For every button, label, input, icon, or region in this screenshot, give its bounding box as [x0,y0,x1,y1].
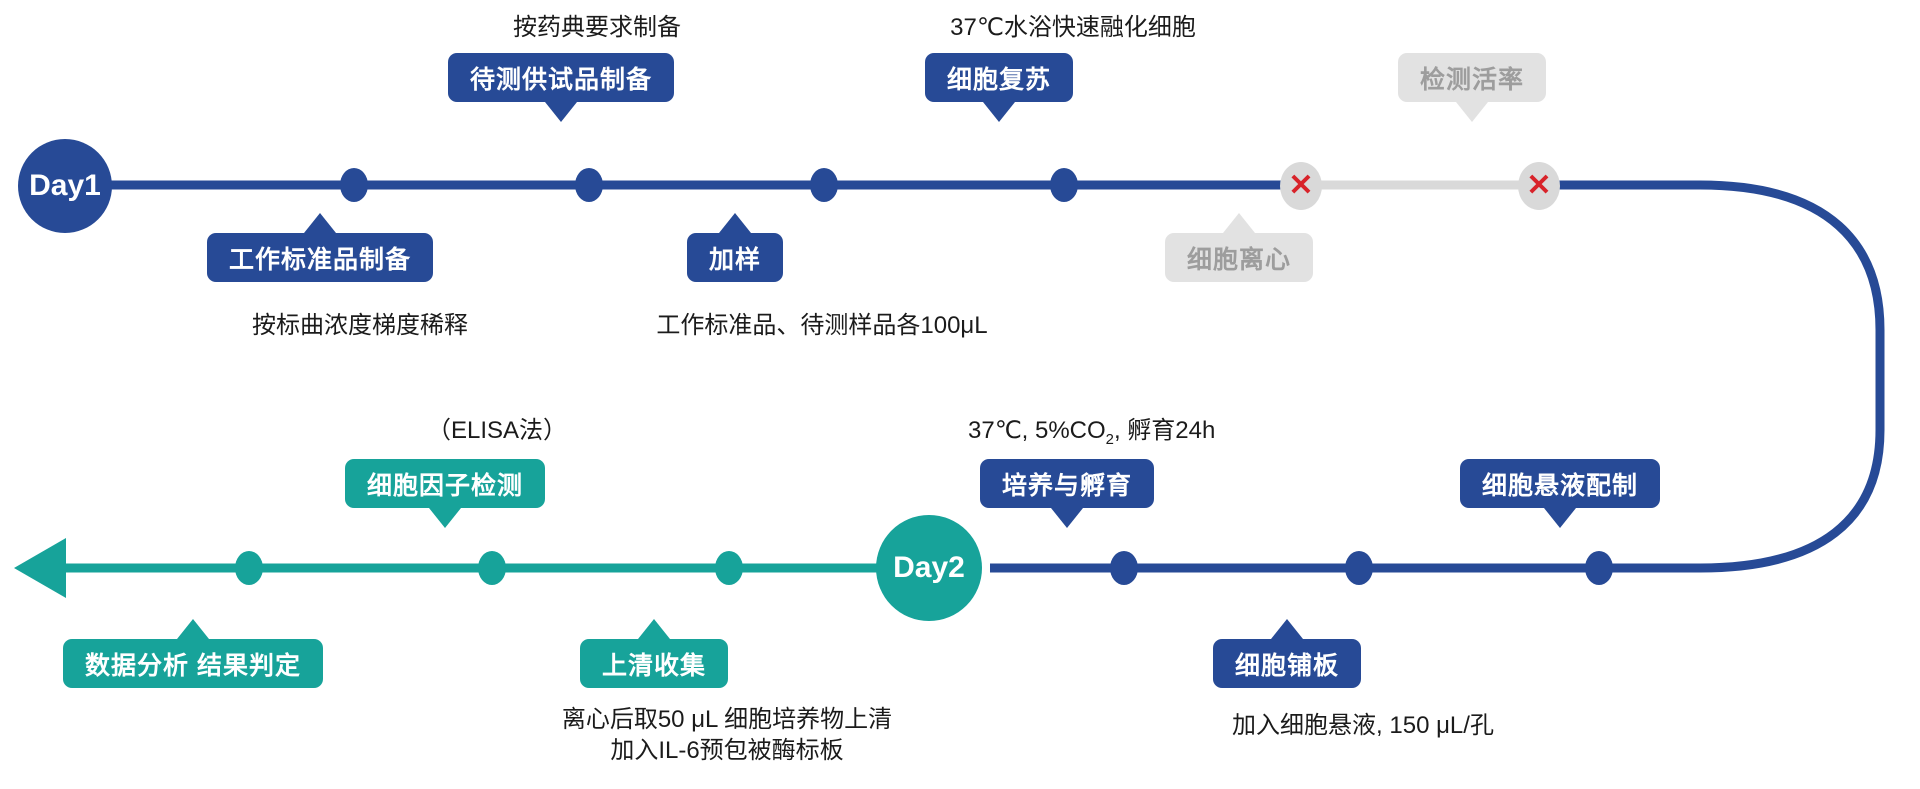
box-label: 细胞铺板 [1235,646,1339,682]
box-label: 细胞离心 [1187,240,1291,276]
day2-node-cytokine[interactable] [478,551,506,585]
box-viability-check[interactable]: 检测活率 [1398,53,1546,102]
caption-pharmacopeia: 按药典要求制备 [513,7,681,42]
box-cell-plating[interactable]: 细胞铺板 [1213,639,1361,688]
cross-icon: ✕ [1288,171,1313,201]
box-label: 数据分析 结果判定 [85,646,301,682]
caption-standard-dilution: 按标曲浓度梯度稀释 [252,305,468,340]
day1-node-3[interactable] [810,168,838,202]
day1-label: Day1 [29,169,101,203]
day2-node-incubation[interactable] [1110,551,1138,585]
day1-bubble[interactable]: Day1 [18,139,112,233]
day1-node-5-excluded[interactable]: ✕ [1280,162,1322,210]
day2-label: Day2 [893,551,965,585]
box-cell-suspension-prep[interactable]: 细胞悬液配制 [1460,459,1660,508]
caption-part-time: , 孵育24h [1114,417,1215,444]
box-label: 待测供试品制备 [470,60,652,96]
box-label: 细胞复苏 [947,60,1051,96]
day1-node-4[interactable] [1050,168,1078,202]
box-cell-recovery[interactable]: 细胞复苏 [925,53,1073,102]
box-label: 检测活率 [1420,60,1524,96]
caption-thaw-cells: 37℃水浴快速融化细胞 [950,7,1196,42]
day2-bubble[interactable]: Day2 [876,515,982,621]
caption-plating-volume: 加入细胞悬液, 150 μL/孔 [1232,705,1494,740]
box-supernatant-collection[interactable]: 上清收集 [580,639,728,688]
caption-elisa-method: （ELISA法） [427,410,567,445]
day1-node-2[interactable] [575,168,603,202]
day1-to-day2-curve [1548,185,1880,568]
box-working-standard-prep[interactable]: 工作标准品制备 [207,233,433,282]
box-label: 工作标准品制备 [229,240,411,276]
caption-line-2: 加入IL-6预包被酶标板 [562,736,892,767]
cross-icon: ✕ [1526,171,1551,201]
caption-supernatant-steps: 离心后取50 μL 细胞培养物上清 加入IL-6预包被酶标板 [562,705,892,766]
box-label: 上清收集 [602,646,706,682]
box-label: 细胞悬液配制 [1482,466,1638,502]
caption-100ul-each: 工作标准品、待测样品各100μL [656,305,987,340]
caption-incubation-conditions: 37℃, 5%CO2, 孵育24h [968,410,1215,448]
caption-line-1: 离心后取50 μL 细胞培养物上清 [562,705,892,736]
box-label: 加样 [709,240,761,276]
day2-node-suspension[interactable] [1585,551,1613,585]
box-label: 细胞因子检测 [367,466,523,502]
day2-node-plating[interactable] [1345,551,1373,585]
box-culture-incubation[interactable]: 培养与孵育 [980,459,1154,508]
caption-part-temp: 37℃, 5%CO [968,417,1106,444]
day2-node-analysis[interactable] [235,551,263,585]
box-cytokine-detection[interactable]: 细胞因子检测 [345,459,545,508]
day1-node-1[interactable] [340,168,368,202]
caption-part-sub: 2 [1106,432,1114,448]
workflow-diagram: Day1 按药典要求制备 37℃水浴快速融化细胞 待测供试品制备 细胞复苏 检测… [0,0,1920,789]
day1-node-6-excluded[interactable]: ✕ [1518,162,1560,210]
end-arrow-left-icon [14,538,66,598]
day2-node-supernatant[interactable] [715,551,743,585]
box-cell-centrifugation[interactable]: 细胞离心 [1165,233,1313,282]
box-data-analysis-conclusion[interactable]: 数据分析 结果判定 [63,639,323,688]
box-sample-loading[interactable]: 加样 [687,233,783,282]
box-label: 培养与孵育 [1002,466,1132,502]
box-test-sample-prep[interactable]: 待测供试品制备 [448,53,674,102]
